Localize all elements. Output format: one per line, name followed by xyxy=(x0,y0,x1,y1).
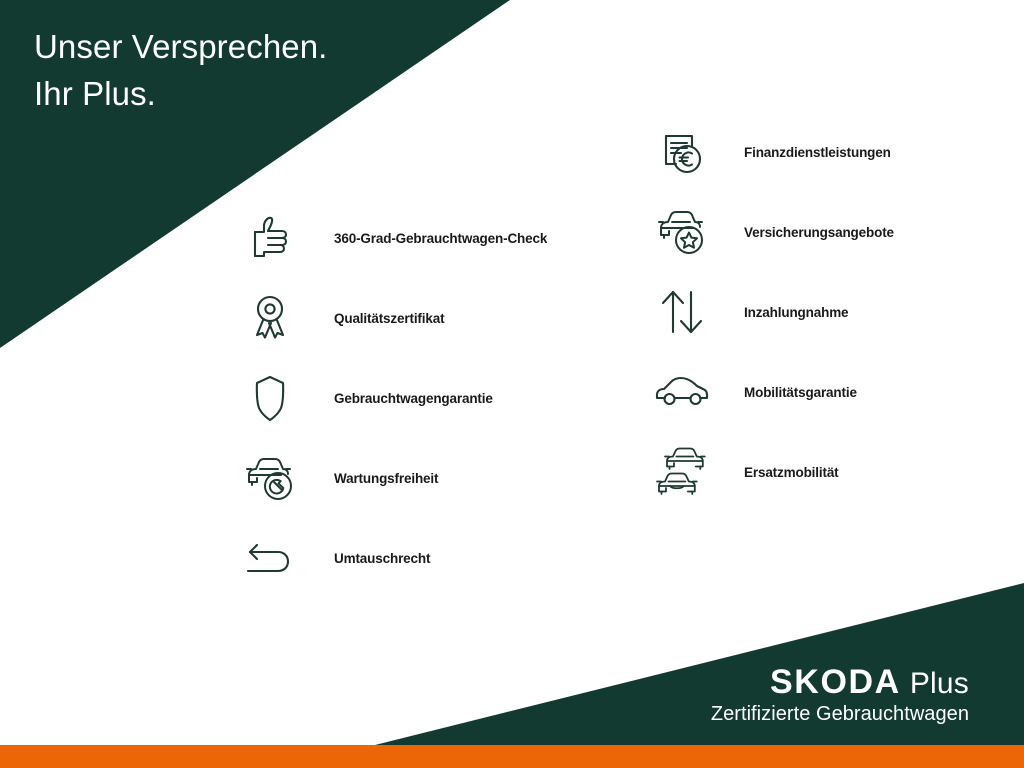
feature-label: Versicherungsangebote xyxy=(744,225,894,240)
feature-item-insurance: Versicherungsangebote xyxy=(648,192,894,272)
two-cars-icon xyxy=(648,438,716,506)
feature-item-360-check: 360-Grad-Gebrauchtwagen-Check xyxy=(236,198,547,278)
car-star-icon xyxy=(648,198,716,266)
feature-label: Wartungsfreiheit xyxy=(334,471,438,486)
feature-item-replacement-mobility: Ersatzmobilität xyxy=(648,432,894,512)
feature-item-warranty: Gebrauchtwagengarantie xyxy=(236,358,547,438)
feature-list-right: Finanzdienstleistungen Versicherungsange… xyxy=(648,112,894,512)
feature-item-trade-in: Inzahlungnahme xyxy=(648,272,894,352)
brand-name-row: SKODA Plus xyxy=(711,663,969,702)
feature-label: Umtauschrecht xyxy=(334,551,430,566)
thumbs-up-icon xyxy=(236,204,304,272)
brand-suffix: Plus xyxy=(910,667,969,701)
feature-label: 360-Grad-Gebrauchtwagen-Check xyxy=(334,231,547,246)
up-down-arrows-icon xyxy=(648,278,716,346)
return-arrow-icon xyxy=(236,524,304,592)
car-wrench-icon xyxy=(236,444,304,512)
feature-label: Qualitätszertifikat xyxy=(334,311,444,326)
feature-item-return-right: Umtauschrecht xyxy=(236,518,547,598)
promo-banner: Unser Versprechen. Ihr Plus. 360-Grad-Ge… xyxy=(0,0,1024,768)
headline-line-2: Ihr Plus. xyxy=(34,75,156,112)
feature-label: Gebrauchtwagengarantie xyxy=(334,391,493,406)
skoda-wordmark: SKODA xyxy=(770,663,901,702)
feature-label: Mobilitätsgarantie xyxy=(744,385,857,400)
car-side-icon xyxy=(648,358,716,426)
headline-line-1: Unser Versprechen. xyxy=(34,28,327,65)
feature-item-quality-certificate: Qualitätszertifikat xyxy=(236,278,547,358)
document-euro-icon xyxy=(648,118,716,186)
brand-lockup: SKODA Plus Zertifizierte Gebrauchtwagen xyxy=(711,663,969,726)
feature-label: Inzahlungnahme xyxy=(744,305,848,320)
feature-list-left: 360-Grad-Gebrauchtwagen-Check Qualitätsz… xyxy=(236,198,547,598)
shield-icon xyxy=(236,364,304,432)
brand-tagline: Zertifizierte Gebrauchtwagen xyxy=(711,703,969,726)
feature-item-maintenance: Wartungsfreiheit xyxy=(236,438,547,518)
feature-item-mobility-guarantee: Mobilitätsgarantie xyxy=(648,352,894,432)
award-rosette-icon xyxy=(236,284,304,352)
feature-item-financial-services: Finanzdienstleistungen xyxy=(648,112,894,192)
feature-label: Ersatzmobilität xyxy=(744,465,839,480)
orange-accent-bar xyxy=(0,745,1024,768)
feature-label: Finanzdienstleistungen xyxy=(744,145,891,160)
page-title: Unser Versprechen. Ihr Plus. xyxy=(34,24,464,118)
